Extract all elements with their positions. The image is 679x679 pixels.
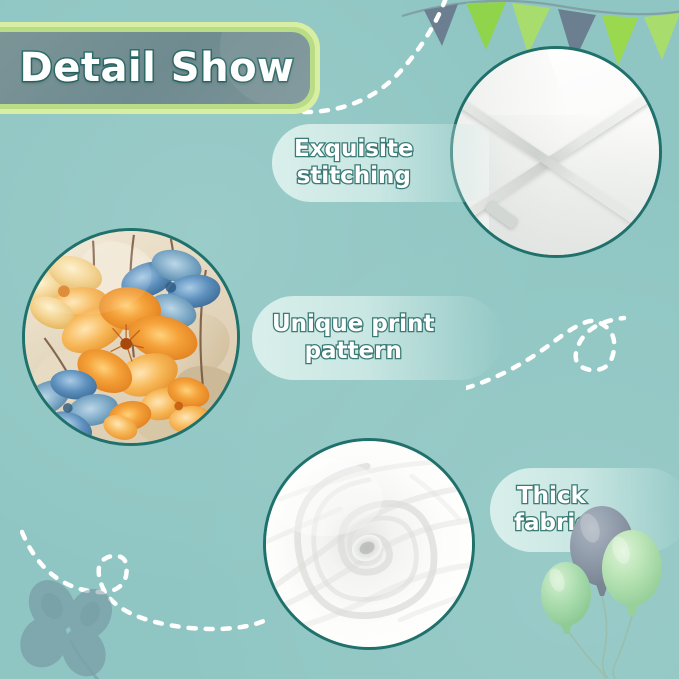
dashed-curve-right bbox=[466, 296, 679, 446]
balloon-cluster bbox=[536, 476, 679, 679]
feature-label-exquisite-stitching: Exquisite stitching bbox=[272, 124, 504, 202]
balloon-green-small bbox=[541, 562, 591, 634]
page-title: Detail Show bbox=[0, 45, 295, 91]
fabric-swirl-artwork bbox=[266, 441, 472, 647]
floral-artwork bbox=[25, 231, 237, 443]
feature-label-text: Unique print pattern bbox=[272, 311, 434, 365]
fabric-texture-closeup-photo bbox=[263, 438, 475, 650]
floral-print-closeup-photo bbox=[22, 228, 240, 446]
detail-show-page: Detail Show bbox=[0, 0, 679, 679]
four-leaf-clover bbox=[8, 576, 138, 679]
feature-label-text: Exquisite stitching bbox=[294, 136, 413, 190]
balloon-green-large bbox=[602, 530, 662, 616]
title-banner-fill: Detail Show bbox=[0, 32, 310, 104]
stitching-shadow bbox=[489, 115, 662, 258]
title-banner: Detail Show bbox=[0, 22, 320, 114]
title-banner-border: Detail Show bbox=[0, 27, 315, 109]
feature-label-unique-print-pattern: Unique print pattern bbox=[252, 296, 502, 380]
